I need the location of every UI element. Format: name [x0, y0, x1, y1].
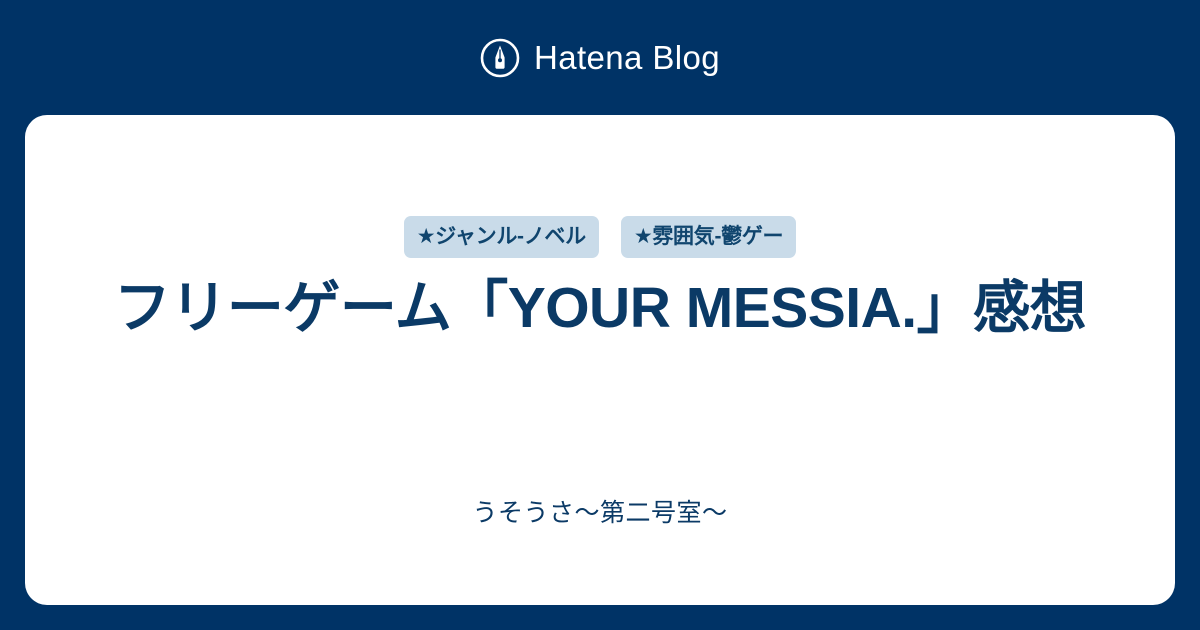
- blog-title: うそうさ～第二号室～: [25, 497, 1175, 530]
- tag-pill-genre[interactable]: ★ジャンル-ノベル: [404, 216, 599, 258]
- brand-header: Hatena Blog: [0, 0, 1200, 115]
- entry-title: フリーゲーム「YOUR MESSIA.」感想: [25, 272, 1175, 345]
- tag-pill-mood[interactable]: ★雰囲気-鬱ゲー: [621, 216, 796, 258]
- fountain-pen-nib-circle-icon: [480, 38, 520, 78]
- entry-card-content: ★ジャンル-ノベル ★雰囲気-鬱ゲー フリーゲーム「YOUR MESSIA.」感…: [25, 115, 1175, 605]
- tag-list: ★ジャンル-ノベル ★雰囲気-鬱ゲー: [25, 216, 1175, 258]
- ogp-card-root: Hatena Blog ★ジャンル-ノベル ★雰囲気-鬱ゲー フリーゲーム「YO…: [0, 0, 1200, 630]
- entry-card: ★ジャンル-ノベル ★雰囲気-鬱ゲー フリーゲーム「YOUR MESSIA.」感…: [25, 115, 1175, 605]
- brand-name: Hatena Blog: [534, 41, 720, 74]
